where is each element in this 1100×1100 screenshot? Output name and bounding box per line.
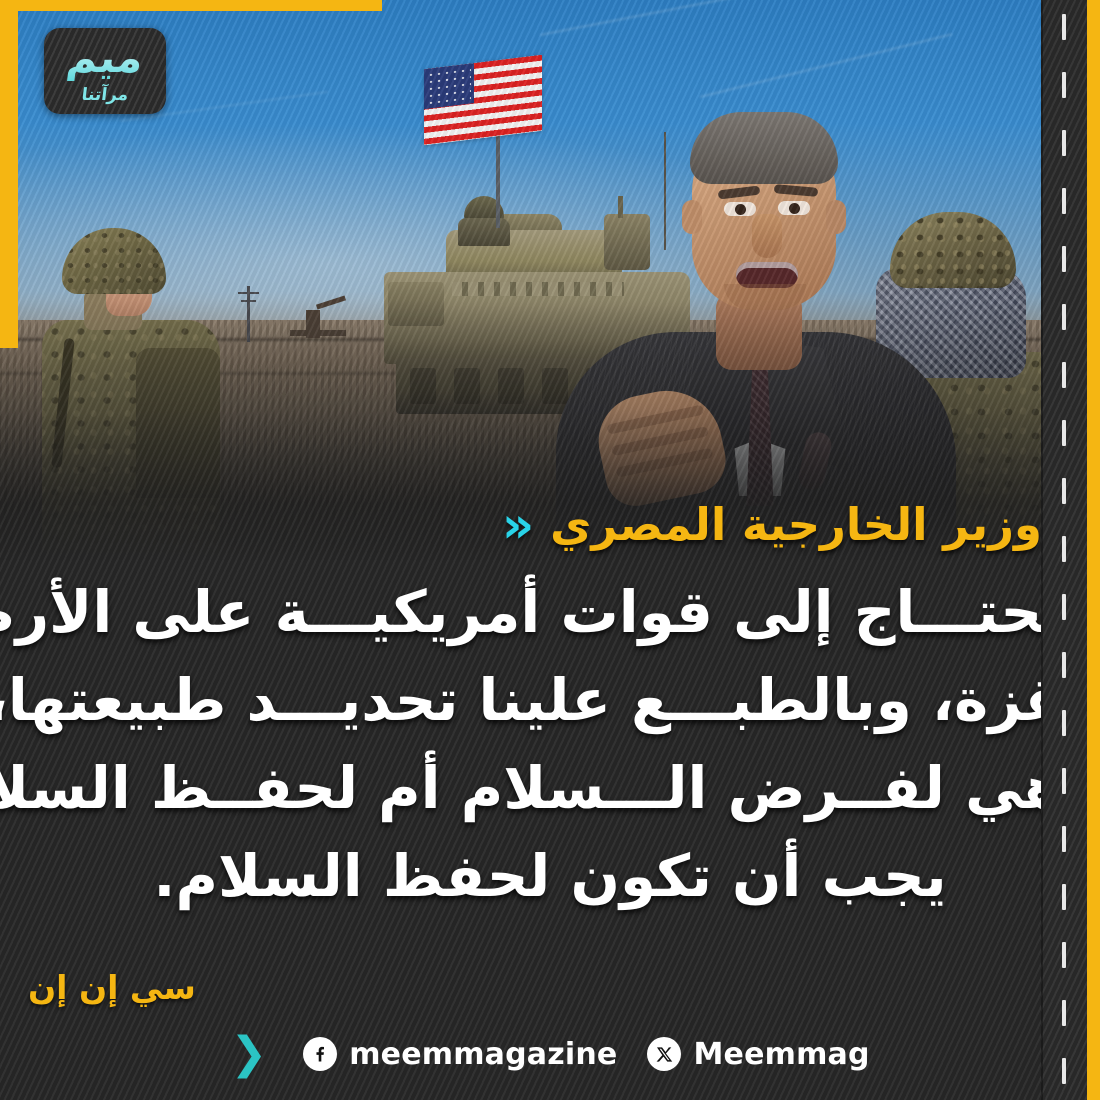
news-card: ميم مرآتنا وزير الخارجية المصري « نحتـــ… [0, 0, 1100, 1100]
facebook-account[interactable]: meemmagazine [303, 1037, 617, 1072]
text-content: وزير الخارجية المصري « نحتـــاج إلى قوات… [0, 470, 1100, 1100]
left-accent-bar [0, 0, 18, 348]
quote-block: نحتـــاج إلى قوات أمريكيـــة على الأرض ف… [36, 568, 1064, 920]
source-attribution: سي إن إن [28, 968, 196, 1007]
quote-line: غزة، وبالطبـــع علينا تحديـــد طبيعتها، … [36, 656, 1064, 744]
quote-line: نحتـــاج إلى قوات أمريكيـــة على الأرض ف… [36, 568, 1064, 656]
right-accent-bar [1087, 0, 1100, 1100]
x-twitter-handle: Meemmag [693, 1037, 869, 1072]
facebook-icon [303, 1037, 337, 1071]
road-strip [1041, 0, 1087, 1100]
facebook-handle: meemmagazine [349, 1037, 617, 1072]
quote-line: هي لفــرض الـــسلام أم لحفــظ السلام؟ [36, 744, 1064, 832]
brand-logo-wordmark: ميم [44, 35, 166, 81]
vehicle-crew-soldier [458, 196, 510, 244]
quote-line-text: نحتـــاج إلى قوات أمريكيـــة على الأرض ف… [0, 568, 1064, 656]
x-twitter-account[interactable]: Meemmag [647, 1037, 869, 1072]
quote-line: يجب أن تكون لحفظ السلام. [36, 832, 1064, 920]
kicker: وزير الخارجية المصري « [502, 498, 1042, 551]
footer-chevron-icon: ❯ [230, 1032, 267, 1076]
social-footer: ❯ meemmagazine Meemmag [0, 1030, 1100, 1078]
quote-line-text: يجب أن تكون لحفظ السلام. [153, 832, 946, 920]
quote-line-text: هي لفــرض الـــسلام أم لحفــظ السلام؟ [0, 744, 1064, 832]
top-accent-bar [0, 0, 382, 11]
brand-logo-tagline: مرآتنا [44, 85, 166, 105]
kicker-label: وزير الخارجية المصري [550, 498, 1042, 551]
x-twitter-icon [647, 1037, 681, 1071]
quote-chevron-icon: « [502, 500, 534, 550]
brand-logo[interactable]: ميم مرآتنا [44, 28, 166, 114]
us-flag-icon [424, 62, 542, 138]
quote-line-text: غزة، وبالطبـــع علينا تحديـــد طبيعتها، … [0, 656, 1064, 744]
